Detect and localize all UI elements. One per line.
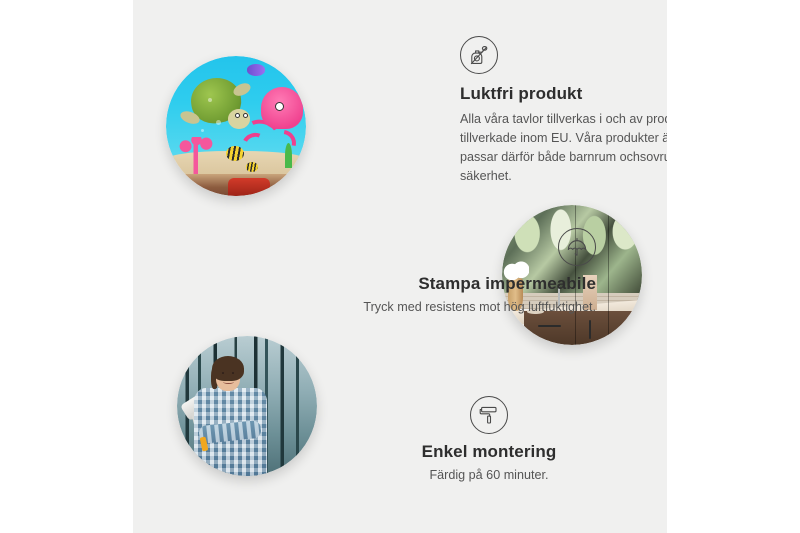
cabinet-handle [625, 320, 627, 340]
feature-title: Stampa impermeabile [293, 274, 596, 294]
hair [212, 356, 244, 381]
purple-fish [247, 64, 265, 75]
drawer-handle [538, 325, 560, 327]
vanity-seam [608, 205, 609, 345]
photo-painter-forest-mural [177, 336, 317, 476]
smile [223, 379, 234, 383]
feature-odour-free: Luktfri produkt Alla våra tavlor tillver… [460, 36, 667, 187]
feature-title: Enkel montering [391, 442, 587, 462]
feature-description: Tryck med resistens mot hög luftfuktighe… [293, 298, 596, 317]
bubble [208, 98, 212, 102]
photo-painter-inner [177, 336, 317, 476]
feature-description: Alla våra tavlor tillverkas i och av pro… [460, 110, 667, 187]
screenshot-root: Luktfri produkt Alla våra tavlor tillver… [0, 0, 800, 533]
octopus-eye [275, 102, 284, 111]
feature-water-resistant: Stampa impermeabile Tryck med resistens … [293, 228, 596, 317]
paint-roller-icon [470, 396, 508, 434]
umbrella-icon [558, 228, 596, 266]
coral-icon [177, 137, 216, 173]
red-object [228, 178, 270, 196]
bubble [201, 129, 204, 132]
product-feature-panel: Luktfri produkt Alla våra tavlor tillver… [133, 0, 667, 533]
no-fragrance-icon [460, 36, 498, 74]
cabinet-handle [589, 320, 591, 340]
photo-underwater-kids-mural [166, 56, 306, 196]
feature-title: Luktfri produkt [460, 84, 667, 104]
feature-easy-mounting: Enkel montering Färdig på 60 minuter. [391, 396, 587, 485]
photo-underwater-inner [166, 56, 306, 196]
feature-description: Färdig på 60 minuter. [391, 466, 587, 485]
